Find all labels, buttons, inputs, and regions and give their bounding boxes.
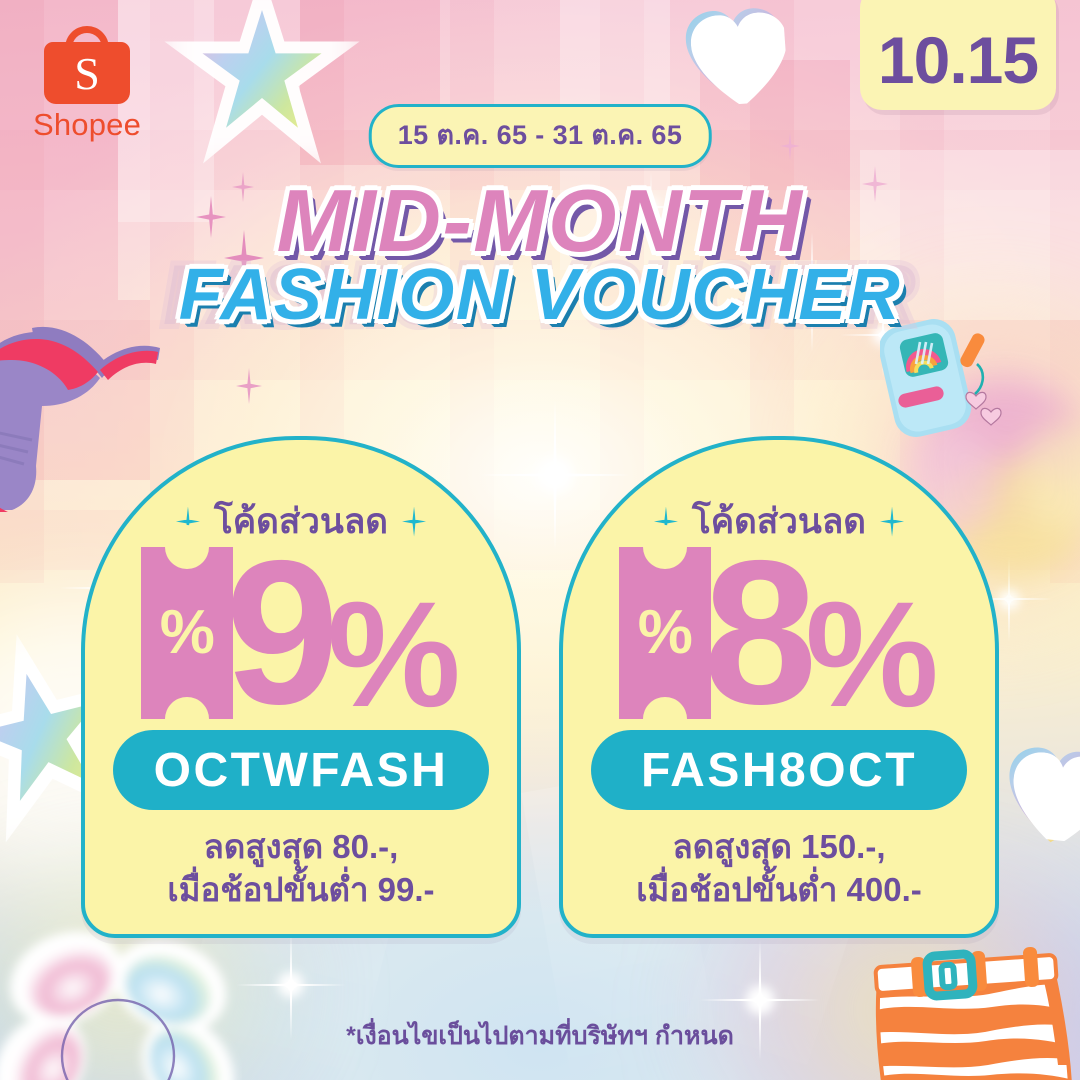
voucher-terms-line-1: ลดสูงสุด 80.-, xyxy=(103,826,499,869)
voucher-terms-2: ลดสูงสุด 150.-, เมื่อช้อปขั้นต่ำ 400.- xyxy=(581,826,977,912)
ticket-percent-symbol-1: % xyxy=(141,602,233,664)
voucher-code-2: FASH8OCT xyxy=(641,743,917,798)
voucher-terms-1: ลดสูงสุด 80.-, เมื่อช้อปขั้นต่ำ 99.- xyxy=(103,826,499,912)
campaign-title: FASHION VOUCHER MID-MONTH FASHION VOUCHE… xyxy=(0,178,1080,331)
voucher-discount-number-1: 9 xyxy=(225,549,333,717)
day-badge-label: 10.15 xyxy=(878,22,1038,98)
footnote: *เงื่อนไขเป็นไปตามที่บริษัทฯ กำหนด xyxy=(0,1016,1080,1056)
ticket-percent-symbol-2: % xyxy=(619,602,711,664)
voucher-code-1: OCTWFASH xyxy=(154,743,449,798)
voucher-discount-number-2: 8 xyxy=(703,549,811,717)
voucher-card-2[interactable]: โค้ดส่วนลด % 8 % FASH8OCT ลดสูงสุด 150.-… xyxy=(559,436,999,938)
voucher-card-1[interactable]: โค้ดส่วนลด % 9 % OCTWFASH ลดสูงสุด 80.-,… xyxy=(81,436,521,938)
voucher-discount-row-1: % 9 % xyxy=(85,544,517,722)
ticket-icon: % xyxy=(619,547,711,719)
voucher-terms-line-1: ลดสูงสุด 150.-, xyxy=(581,826,977,869)
title-line-2: FASHION VOUCHER xyxy=(0,260,1080,331)
day-badge: 10.15 xyxy=(860,0,1056,110)
shopping-bag-icon: S xyxy=(44,26,130,104)
sparkle-icon xyxy=(880,507,904,537)
title-line-2-label: FASHION VOUCHER xyxy=(179,255,902,335)
voucher-code-pill-1[interactable]: OCTWFASH xyxy=(113,730,489,810)
date-range-pill: 15 ต.ค. 65 - 31 ต.ค. 65 xyxy=(369,104,712,168)
shopee-logo[interactable]: S Shopee xyxy=(28,26,146,143)
logo-monogram: S xyxy=(44,51,130,97)
sparkle-icon xyxy=(402,507,426,537)
voucher-terms-line-2: เมื่อช้อปขั้นต่ำ 400.- xyxy=(581,869,977,912)
voucher-card-list: โค้ดส่วนลด % 9 % OCTWFASH ลดสูงสุด 80.-,… xyxy=(0,436,1080,938)
voucher-discount-unit-2: % xyxy=(805,593,938,716)
date-range-label: 15 ต.ค. 65 - 31 ต.ค. 65 xyxy=(398,120,683,150)
brand-name: Shopee xyxy=(28,107,146,143)
title-line-1: MID-MONTH xyxy=(0,178,1080,264)
ticket-icon: % xyxy=(141,547,233,719)
rainbow-star-icon xyxy=(200,10,324,134)
voucher-code-pill-2[interactable]: FASH8OCT xyxy=(591,730,967,810)
voucher-terms-line-2: เมื่อช้อปขั้นต่ำ 99.- xyxy=(103,869,499,912)
voucher-discount-row-2: % 8 % xyxy=(563,544,995,722)
voucher-discount-unit-1: % xyxy=(327,593,460,716)
rainbow-heart-icon xyxy=(687,9,789,107)
